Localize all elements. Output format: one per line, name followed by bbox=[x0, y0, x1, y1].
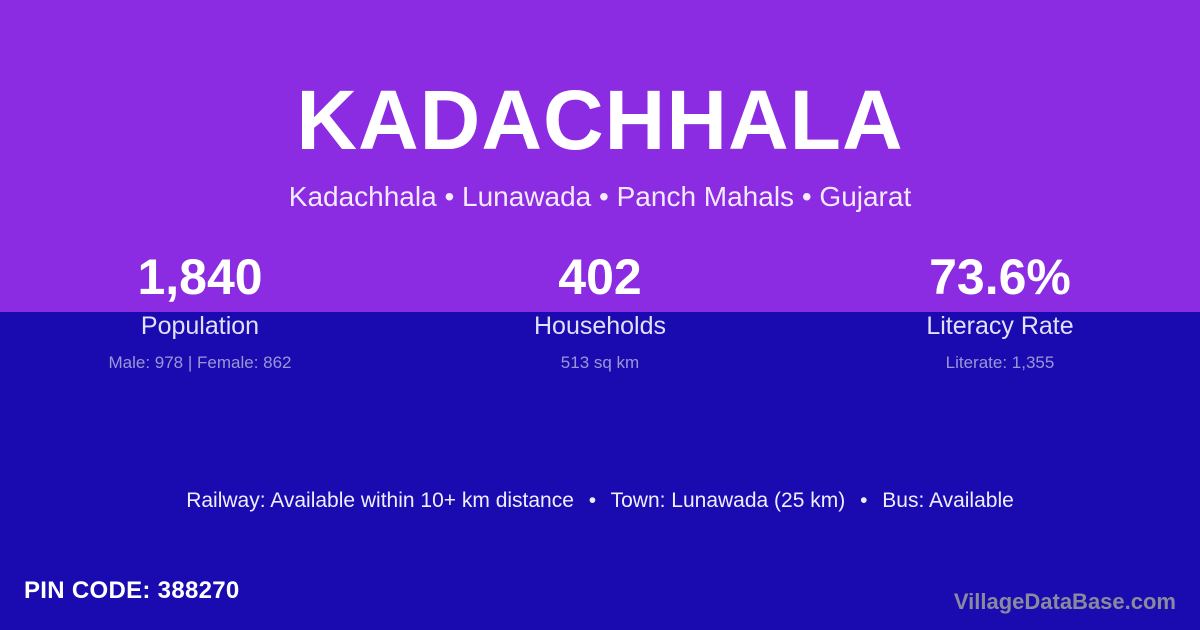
village-info-card: KADACHHALA Kadachhala • Lunawada • Panch… bbox=[0, 0, 1200, 630]
stat-households-sub: 513 sq km bbox=[400, 352, 800, 374]
stat-literacy-label: Literacy Rate bbox=[800, 311, 1200, 341]
amenity-separator-2: • bbox=[851, 489, 876, 512]
brand-watermark: VillageDataBase.com bbox=[954, 588, 1176, 616]
stat-population-value: 1,840 bbox=[0, 248, 400, 306]
pin-code: PIN CODE: 388270 bbox=[24, 576, 240, 606]
stat-population-label: Population bbox=[0, 311, 400, 341]
amenity-bus: Bus: Available bbox=[882, 489, 1014, 512]
page-title: KADACHHALA bbox=[0, 78, 1200, 162]
stat-population-sub: Male: 978 | Female: 862 bbox=[0, 352, 400, 374]
stat-population: 1,840 Population Male: 978 | Female: 862 bbox=[0, 248, 400, 374]
stats-row: 1,840 Population Male: 978 | Female: 862… bbox=[0, 248, 1200, 374]
amenity-separator-1: • bbox=[580, 489, 605, 512]
amenity-town: Town: Lunawada (25 km) bbox=[611, 489, 846, 512]
stat-households-label: Households bbox=[400, 311, 800, 341]
stat-literacy-sub: Literate: 1,355 bbox=[800, 352, 1200, 374]
amenities-line: Railway: Available within 10+ km distanc… bbox=[0, 487, 1200, 515]
stat-households-value: 402 bbox=[400, 248, 800, 306]
stat-literacy: 73.6% Literacy Rate Literate: 1,355 bbox=[800, 248, 1200, 374]
breadcrumb: Kadachhala • Lunawada • Panch Mahals • G… bbox=[0, 183, 1200, 211]
amenity-railway: Railway: Available within 10+ km distanc… bbox=[186, 489, 574, 512]
stat-literacy-value: 73.6% bbox=[800, 248, 1200, 306]
stat-households: 402 Households 513 sq km bbox=[400, 248, 800, 374]
